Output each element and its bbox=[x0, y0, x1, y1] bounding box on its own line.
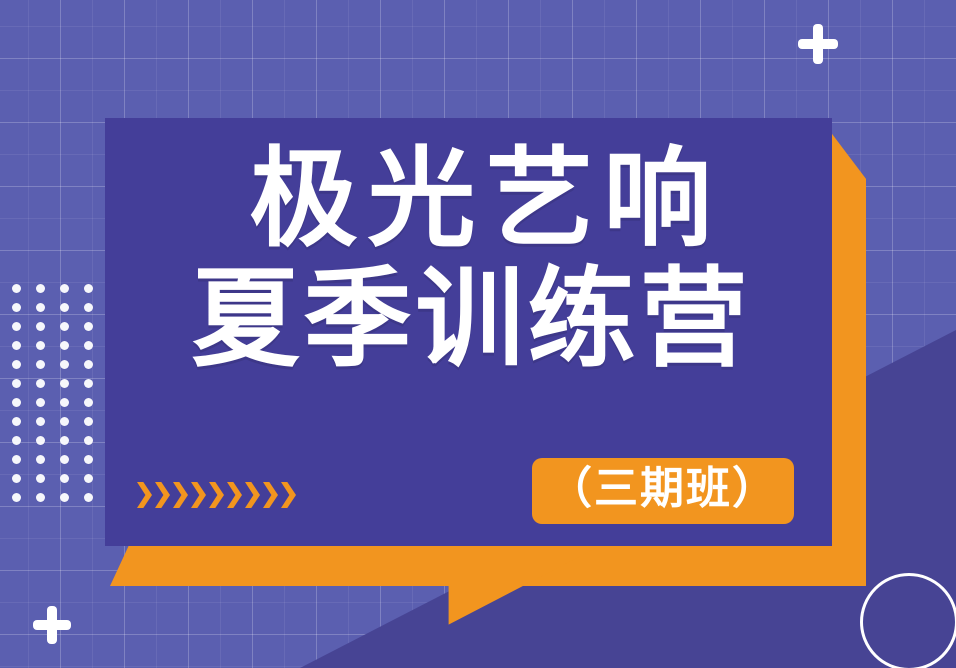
dot bbox=[12, 379, 21, 388]
dot bbox=[36, 284, 45, 293]
chevron-right-icon bbox=[227, 482, 242, 508]
dot bbox=[12, 493, 21, 502]
chevron-arrows-decoration bbox=[137, 482, 296, 508]
dot bbox=[12, 284, 21, 293]
dot bbox=[12, 360, 21, 369]
badge-session-label: （三期班） bbox=[532, 458, 794, 524]
dot bbox=[12, 322, 21, 331]
dot bbox=[60, 379, 69, 388]
dot bbox=[60, 436, 69, 445]
chevron-right-icon bbox=[209, 482, 224, 508]
dot bbox=[84, 417, 93, 426]
dot bbox=[84, 322, 93, 331]
dot bbox=[12, 455, 21, 464]
chevron-right-icon bbox=[191, 482, 206, 508]
dot bbox=[60, 417, 69, 426]
dot bbox=[84, 341, 93, 350]
plus-icon-bottom-left bbox=[33, 606, 71, 644]
dot bbox=[36, 455, 45, 464]
chevron-right-icon bbox=[155, 482, 170, 508]
chevron-right-icon bbox=[173, 482, 188, 508]
dot bbox=[84, 398, 93, 407]
chevron-right-icon bbox=[245, 482, 260, 508]
dot bbox=[84, 379, 93, 388]
poster-canvas: 极光艺响 夏季训练营 （三期班） bbox=[0, 0, 956, 668]
dot bbox=[36, 493, 45, 502]
dot-matrix-decoration bbox=[12, 284, 108, 512]
title-line-1: 极光艺响 bbox=[105, 146, 832, 254]
panel-content: 极光艺响 夏季训练营 （三期班） bbox=[105, 118, 832, 546]
dot bbox=[36, 398, 45, 407]
dot bbox=[12, 341, 21, 350]
dot bbox=[12, 417, 21, 426]
dot bbox=[60, 455, 69, 464]
dot bbox=[36, 303, 45, 312]
dot bbox=[36, 474, 45, 483]
dot bbox=[84, 436, 93, 445]
headline-block: 极光艺响 夏季训练营 bbox=[105, 146, 832, 379]
dot bbox=[60, 360, 69, 369]
chevron-right-icon bbox=[137, 482, 152, 508]
plus-icon-top-right bbox=[798, 24, 838, 64]
dot bbox=[36, 322, 45, 331]
dot bbox=[84, 360, 93, 369]
dot bbox=[84, 455, 93, 464]
dot bbox=[60, 493, 69, 502]
dot bbox=[12, 436, 21, 445]
dot bbox=[60, 322, 69, 331]
chevron-right-icon bbox=[281, 482, 296, 508]
main-panel: 极光艺响 夏季训练营 （三期班） bbox=[105, 118, 832, 546]
dot bbox=[36, 360, 45, 369]
dot bbox=[12, 398, 21, 407]
dot bbox=[36, 341, 45, 350]
chevron-right-icon bbox=[263, 482, 278, 508]
dot bbox=[60, 398, 69, 407]
dot bbox=[84, 493, 93, 502]
dot bbox=[60, 284, 69, 293]
dot bbox=[60, 303, 69, 312]
dot bbox=[84, 284, 93, 293]
dot bbox=[36, 379, 45, 388]
circle-outline-icon bbox=[860, 573, 956, 668]
dot bbox=[12, 474, 21, 483]
dot bbox=[60, 341, 69, 350]
title-line-2: 夏季训练营 bbox=[105, 262, 832, 379]
dot bbox=[36, 436, 45, 445]
dot bbox=[84, 303, 93, 312]
dot bbox=[84, 474, 93, 483]
dot bbox=[60, 474, 69, 483]
dot bbox=[12, 303, 21, 312]
dot bbox=[36, 417, 45, 426]
